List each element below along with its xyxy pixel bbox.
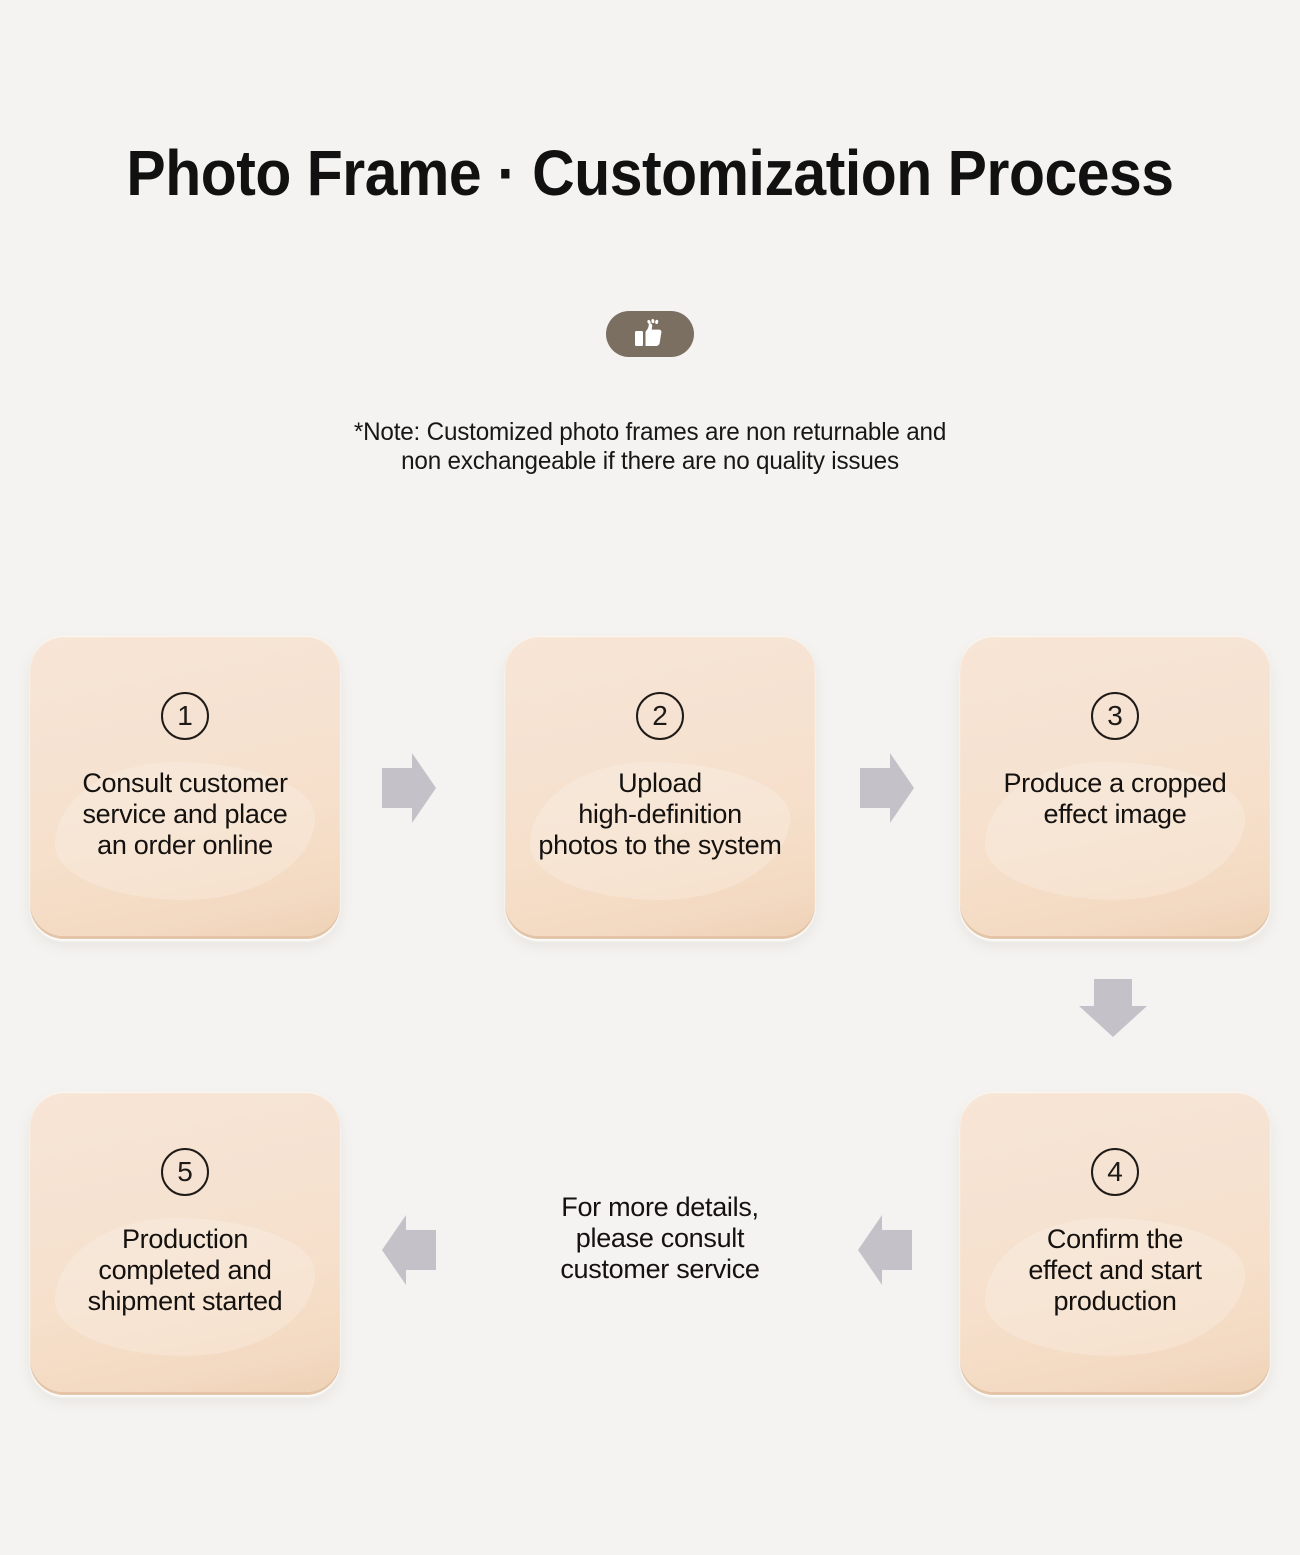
flow-step-card-1[interactable]: 1 Consult customer service and place an … bbox=[30, 636, 340, 936]
step-text-line: Production bbox=[36, 1224, 334, 1255]
badge-container bbox=[0, 311, 1300, 357]
midflow-note: For more details, please consult custome… bbox=[470, 1192, 850, 1285]
disclaimer-note: *Note: Customized photo frames are non r… bbox=[20, 418, 1281, 476]
flow-step-card-4[interactable]: 4 Confirm the effect and start productio… bbox=[960, 1092, 1270, 1392]
arrow-left-icon-step4-to-midnote bbox=[855, 1213, 915, 1287]
step-text-line: effect image bbox=[966, 799, 1264, 830]
step-text-line: Confirm the bbox=[966, 1224, 1264, 1255]
step-text-line: completed and bbox=[36, 1255, 334, 1286]
step-text-line: an order online bbox=[36, 830, 334, 861]
thumbs-up-pill bbox=[606, 311, 694, 357]
step-text-2: Upload high-definition photos to the sys… bbox=[505, 768, 815, 861]
step-number-badge-4: 4 bbox=[1091, 1148, 1139, 1196]
step-number-badge-5: 5 bbox=[161, 1148, 209, 1196]
arrow-down-icon-step3-to-step4 bbox=[1076, 976, 1150, 1040]
midflow-note-line-3: customer service bbox=[470, 1254, 850, 1285]
step-number-badge-2: 2 bbox=[636, 692, 684, 740]
flow-step-card-2[interactable]: 2 Upload high-definition photos to the s… bbox=[505, 636, 815, 936]
step-text-line: photos to the system bbox=[511, 830, 809, 861]
step-text-1: Consult customer service and place an or… bbox=[30, 768, 340, 861]
step-text-4: Confirm the effect and start production bbox=[960, 1224, 1270, 1317]
arrow-left-icon-midnote-to-step5 bbox=[379, 1213, 439, 1287]
thumbs-up-icon bbox=[633, 319, 667, 349]
page-title: Photo Frame · Customization Process bbox=[52, 136, 1248, 210]
disclaimer-note-line-2: non exchangeable if there are no quality… bbox=[20, 447, 1281, 476]
arrow-right-icon-step2-to-step3 bbox=[857, 751, 917, 825]
step-text-line: Produce a cropped bbox=[966, 768, 1264, 799]
disclaimer-note-line-1: *Note: Customized photo frames are non r… bbox=[20, 418, 1281, 447]
step-text-line: Consult customer bbox=[36, 768, 334, 799]
midflow-note-line-2: please consult bbox=[470, 1223, 850, 1254]
step-text-line: shipment started bbox=[36, 1286, 334, 1317]
step-text-line: effect and start bbox=[966, 1255, 1264, 1286]
step-text-line: Upload bbox=[511, 768, 809, 799]
step-number-badge-3: 3 bbox=[1091, 692, 1139, 740]
step-text-line: production bbox=[966, 1286, 1264, 1317]
step-number-badge-1: 1 bbox=[161, 692, 209, 740]
midflow-note-line-1: For more details, bbox=[470, 1192, 850, 1223]
step-text-5: Production completed and shipment starte… bbox=[30, 1224, 340, 1317]
step-text-line: service and place bbox=[36, 799, 334, 830]
arrow-right-icon-step1-to-step2 bbox=[379, 751, 439, 825]
flow-step-card-5[interactable]: 5 Production completed and shipment star… bbox=[30, 1092, 340, 1392]
step-text-line: high-definition bbox=[511, 799, 809, 830]
step-text-3: Produce a cropped effect image bbox=[960, 768, 1270, 830]
flow-step-card-3[interactable]: 3 Produce a cropped effect image bbox=[960, 636, 1270, 936]
